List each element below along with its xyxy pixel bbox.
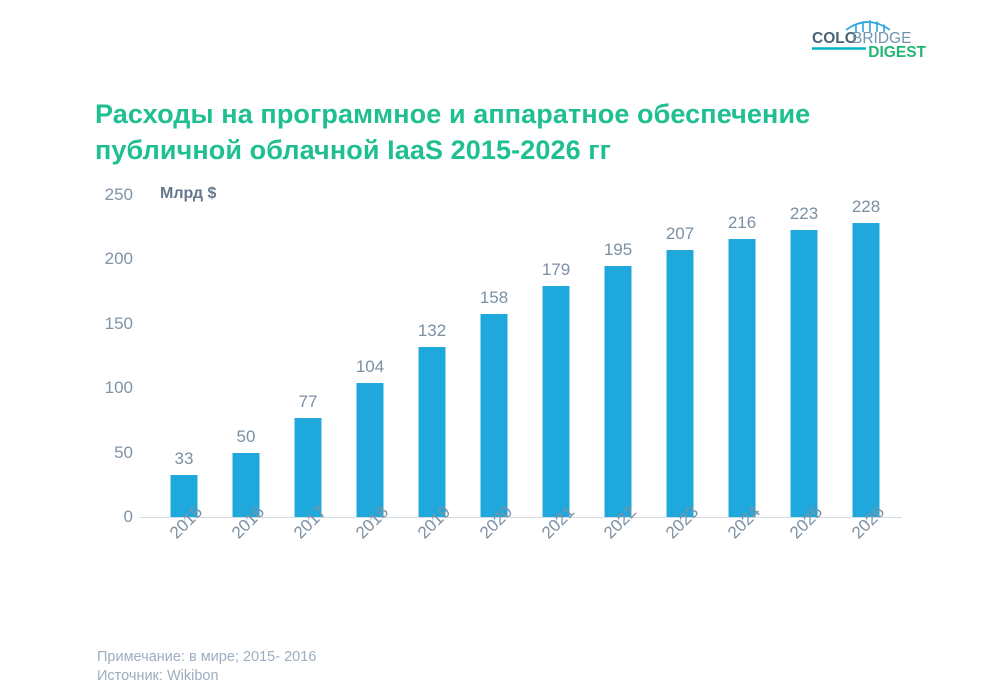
bar[interactable]: 207 bbox=[667, 250, 694, 517]
bar-value-label: 216 bbox=[728, 213, 756, 233]
y-axis-tick-label: 50 bbox=[114, 443, 133, 463]
bar-group: 104 bbox=[339, 195, 401, 517]
page-title: Расходы на программное и аппаратное обес… bbox=[95, 96, 915, 168]
bar-group: 216 bbox=[711, 195, 773, 517]
footnote: Примечание: в мире; 2015- 2016 Источник:… bbox=[97, 648, 316, 686]
bar[interactable]: 228 bbox=[853, 223, 880, 517]
bar[interactable]: 216 bbox=[729, 239, 756, 517]
bar-value-label: 50 bbox=[237, 427, 256, 447]
bar-value-label: 179 bbox=[542, 260, 570, 280]
bar-group: 77 bbox=[277, 195, 339, 517]
bar[interactable]: 195 bbox=[605, 266, 632, 517]
logo-text-digest: DIGEST bbox=[868, 44, 926, 61]
bar-group: 179 bbox=[525, 195, 587, 517]
logo-text-colo: COLO bbox=[812, 30, 857, 47]
bar-chart: Млрд $ 335077104132158179195207216223228… bbox=[100, 185, 900, 525]
plot-area: 335077104132158179195207216223228 bbox=[145, 195, 895, 517]
footnote-note: Примечание: в мире; 2015- 2016 bbox=[97, 648, 316, 667]
bar-value-label: 77 bbox=[299, 392, 318, 412]
bar[interactable]: 223 bbox=[791, 230, 818, 517]
bar[interactable]: 158 bbox=[481, 314, 508, 518]
bar[interactable]: 179 bbox=[543, 286, 570, 517]
y-axis-tick-label: 250 bbox=[105, 185, 133, 205]
bar-group: 50 bbox=[215, 195, 277, 517]
bar-value-label: 228 bbox=[852, 197, 880, 217]
bar-value-label: 104 bbox=[356, 357, 384, 377]
bar-value-label: 33 bbox=[175, 449, 194, 469]
bar-value-label: 132 bbox=[418, 321, 446, 341]
bar-value-label: 158 bbox=[480, 288, 508, 308]
bar-group: 207 bbox=[649, 195, 711, 517]
bar-group: 195 bbox=[587, 195, 649, 517]
page-title-line-2: публичной облачной IaaS 2015-2026 гг bbox=[95, 132, 915, 168]
bar-group: 132 bbox=[401, 195, 463, 517]
colobridge-digest-logo: COLO BRIDGE DIGEST bbox=[808, 10, 928, 62]
bar-group: 228 bbox=[835, 195, 897, 517]
bar[interactable]: 132 bbox=[419, 347, 446, 517]
y-axis-tick-label: 200 bbox=[105, 249, 133, 269]
y-axis-tick-label: 100 bbox=[105, 378, 133, 398]
y-axis-tick-label: 0 bbox=[124, 507, 133, 527]
y-axis-tick-label: 150 bbox=[105, 314, 133, 334]
bar-group: 158 bbox=[463, 195, 525, 517]
bar-value-label: 207 bbox=[666, 224, 694, 244]
bar-group: 223 bbox=[773, 195, 835, 517]
bar[interactable]: 104 bbox=[357, 383, 384, 517]
footnote-source: Источник: Wikibon bbox=[97, 667, 316, 686]
bar-value-label: 195 bbox=[604, 240, 632, 260]
bar-value-label: 223 bbox=[790, 204, 818, 224]
page-title-line-1: Расходы на программное и аппаратное обес… bbox=[95, 96, 915, 132]
bar-group: 33 bbox=[153, 195, 215, 517]
